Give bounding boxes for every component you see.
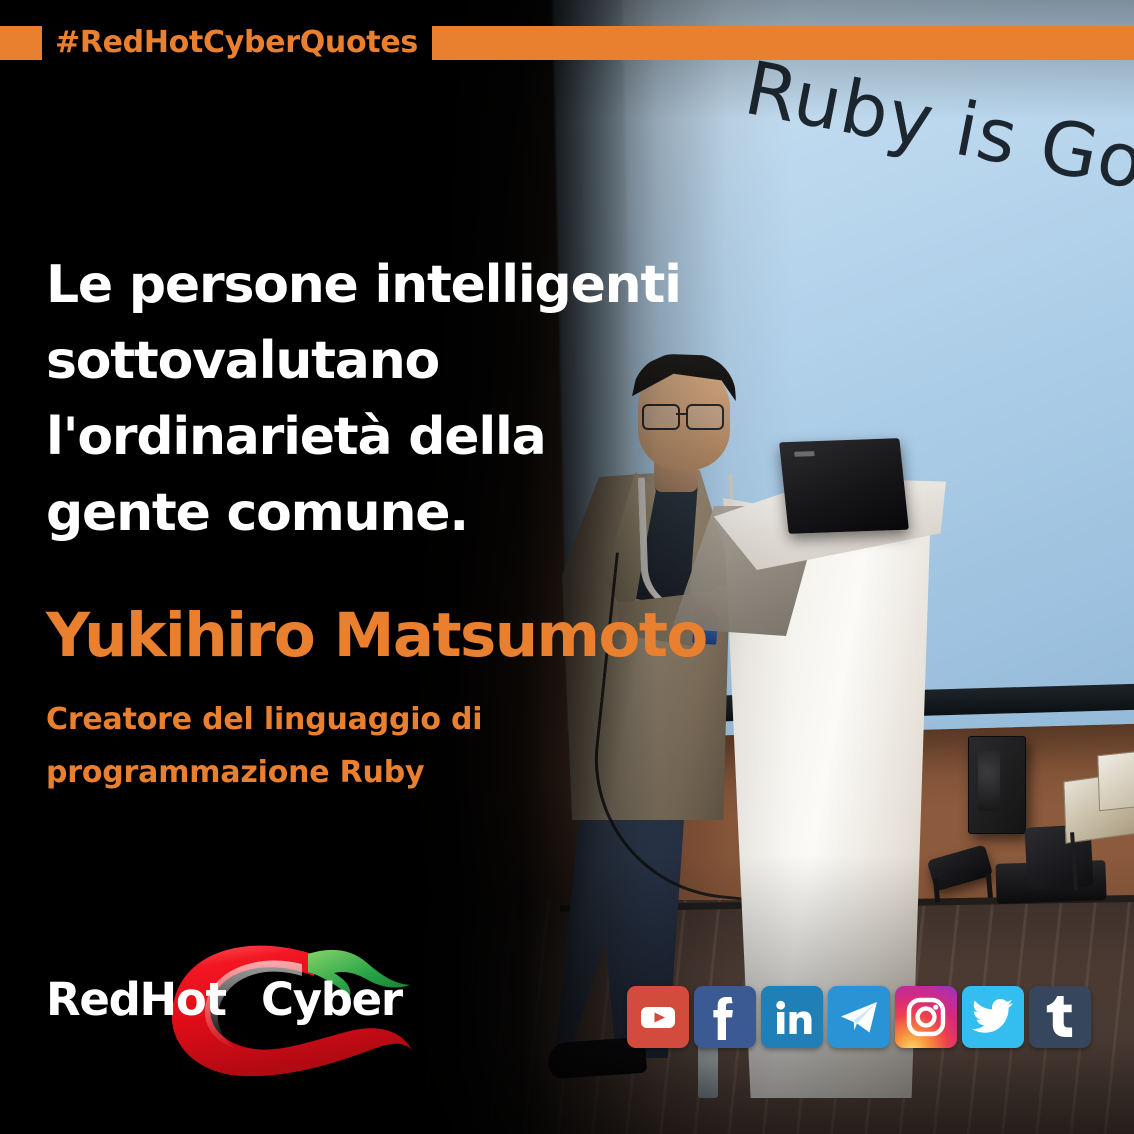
quote-line-2: sottovalutano: [46, 323, 686, 399]
author-name: Yukihiro Matsumoto: [46, 601, 707, 671]
social-links: [627, 986, 1091, 1048]
telegram-icon: [838, 997, 880, 1037]
logo-word-cyber: Cyber: [261, 976, 402, 1024]
instagram-icon: [906, 997, 946, 1037]
social-link-instagram[interactable]: [895, 986, 957, 1048]
author-role: Creatore del linguaggio di programmazion…: [46, 693, 707, 799]
author-role-line-2: programmazione Ruby: [46, 746, 707, 799]
attribution: Yukihiro Matsumoto Creatore del linguagg…: [46, 601, 707, 799]
linkedin-icon: [772, 997, 812, 1037]
youtube-icon: [638, 997, 678, 1037]
social-link-twitter[interactable]: [962, 986, 1024, 1048]
social-link-telegram[interactable]: [828, 986, 890, 1048]
author-role-line-1: Creatore del linguaggio di: [46, 693, 707, 746]
hashtag-bar-block-left: [0, 26, 42, 60]
hashtag-label: #RedHotCyberQuotes: [42, 26, 432, 60]
quote-line-4: gente comune.: [46, 475, 686, 551]
logo-word-redhot: RedHot: [46, 976, 226, 1024]
social-link-youtube[interactable]: [627, 986, 689, 1048]
redhotcyber-logo[interactable]: RedHot Cyber: [46, 928, 446, 1078]
quote-line-3: l'ordinarietà della: [46, 399, 686, 475]
hashtag-bar-block-right: [432, 26, 1134, 60]
social-link-facebook[interactable]: [694, 986, 756, 1048]
tumblr-icon: [1045, 996, 1075, 1038]
quote-card: Ruby is Good: [0, 0, 1134, 1134]
facebook-icon: [705, 994, 745, 1040]
social-link-linkedin[interactable]: [761, 986, 823, 1048]
quote-line-1: Le persone intelligenti: [46, 247, 686, 323]
social-link-tumblr[interactable]: [1029, 986, 1091, 1048]
twitter-icon: [972, 998, 1014, 1036]
hashtag-bar: #RedHotCyberQuotes: [0, 26, 1134, 60]
quote-text: Le persone intelligenti sottovalutano l'…: [46, 247, 686, 551]
